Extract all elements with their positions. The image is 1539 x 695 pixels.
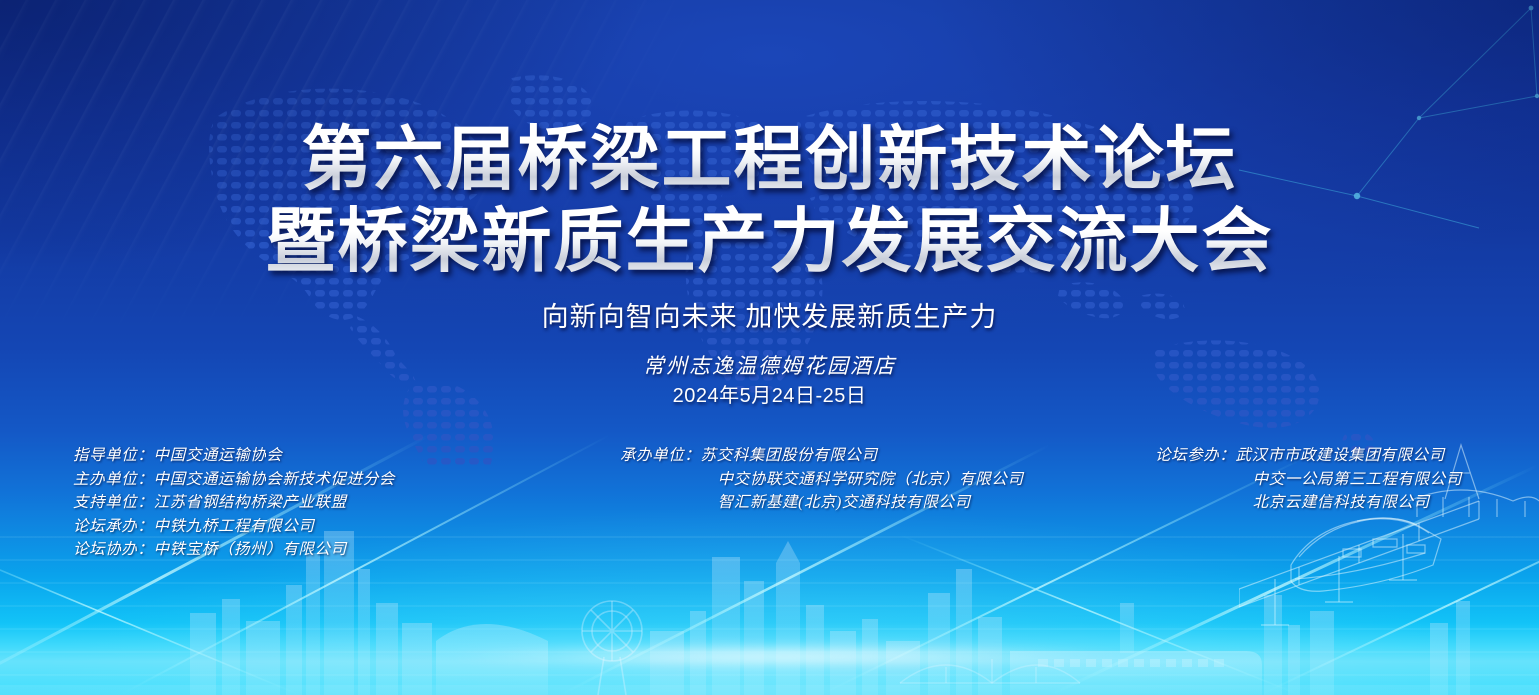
credit-value: 北京云建信科技有限公司 (1253, 494, 1430, 511)
credit-line: 承办单位：苏交科集团股份有限公司 (620, 444, 1024, 468)
credits-left-column: 指导单位：中国交通运输协会 主办单位：中国交通运输协会新技术促进分会 支持单位：… (73, 444, 395, 562)
credit-line: 论坛参办：武汉市市政建设集团有限公司 (1155, 444, 1462, 468)
credit-line: 中交协联交通科学研究院（北京）有限公司 (620, 468, 1024, 492)
conference-banner: 第六届桥梁工程创新技术论坛 暨桥梁新质生产力发展交流大会 向新向智向未来 加快发… (0, 0, 1539, 695)
credit-line: 论坛承办：中铁九桥工程有限公司 (73, 515, 395, 539)
slogan-text: 向新向智向未来 加快发展新质生产力 (0, 295, 1539, 334)
credit-line: 论坛协办：中铁宝桥（扬州）有限公司 (73, 538, 395, 562)
credits-section: 指导单位：中国交通运输协会 主办单位：中国交通运输协会新技术促进分会 支持单位：… (0, 444, 1539, 554)
credit-label: 承办单位： (620, 447, 701, 464)
title-line-2: 暨桥梁新质生产力发展交流大会 (0, 200, 1539, 282)
title-line-1: 第六届桥梁工程创新技术论坛 (0, 118, 1539, 200)
credit-line: 支持单位：江苏省钢结构桥梁产业联盟 (73, 491, 395, 515)
credit-value: 中国交通运输协会 (154, 447, 283, 464)
credits-middle-column: 承办单位：苏交科集团股份有限公司 中交协联交通科学研究院（北京）有限公司 智汇新… (620, 444, 1024, 515)
page-title: 第六届桥梁工程创新技术论坛 暨桥梁新质生产力发展交流大会 (0, 118, 1539, 282)
credit-label: 主办单位： (73, 471, 154, 488)
credit-line: 中交一公局第三工程有限公司 (1155, 468, 1462, 492)
credit-value: 中国交通运输协会新技术促进分会 (154, 471, 396, 488)
credit-label: 论坛承办： (73, 518, 154, 535)
credit-value: 苏交科集团股份有限公司 (701, 447, 878, 464)
credit-label: 论坛协办： (73, 541, 154, 558)
date-text: 2024年5月24日-25日 (0, 382, 1539, 410)
credit-value: 中交协联交通科学研究院（北京）有限公司 (718, 471, 1024, 488)
credit-label: 支持单位： (73, 494, 154, 511)
credit-value: 智汇新基建(北京)交通科技有限公司 (718, 494, 971, 511)
credit-value: 江苏省钢结构桥梁产业联盟 (154, 494, 347, 511)
venue-text: 常州志逸温德姆花园酒店 (0, 352, 1539, 380)
credit-line: 北京云建信科技有限公司 (1155, 491, 1462, 515)
credit-line: 指导单位：中国交通运输协会 (73, 444, 395, 468)
credit-line: 智汇新基建(北京)交通科技有限公司 (620, 491, 1024, 515)
banner-content: 第六届桥梁工程创新技术论坛 暨桥梁新质生产力发展交流大会 向新向智向未来 加快发… (0, 0, 1539, 695)
credit-line: 主办单位：中国交通运输协会新技术促进分会 (73, 468, 395, 492)
credit-value: 中交一公局第三工程有限公司 (1253, 471, 1462, 488)
credit-value: 中铁宝桥（扬州）有限公司 (154, 541, 347, 558)
credit-label: 指导单位： (73, 447, 154, 464)
credit-value: 武汉市市政建设集团有限公司 (1236, 447, 1445, 464)
credit-value: 中铁九桥工程有限公司 (154, 518, 315, 535)
venue-date-block: 常州志逸温德姆花园酒店 2024年5月24日-25日 (0, 352, 1539, 410)
credits-right-column: 论坛参办：武汉市市政建设集团有限公司 中交一公局第三工程有限公司 北京云建信科技… (1155, 444, 1462, 515)
credit-label: 论坛参办： (1155, 447, 1236, 464)
